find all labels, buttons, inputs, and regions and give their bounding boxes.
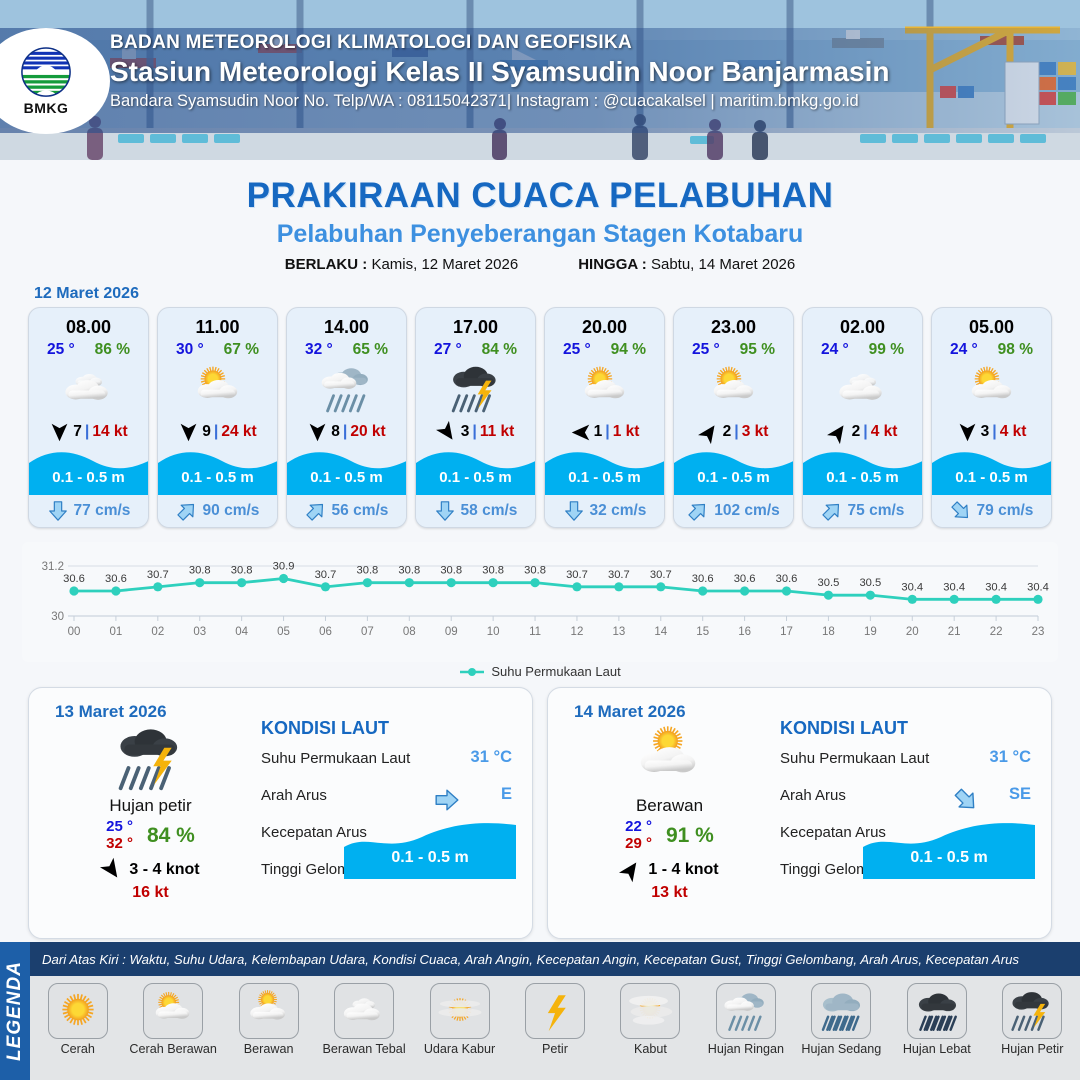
card-current-speed: 75 cm/s <box>848 502 905 520</box>
hourly-date: 12 Maret 2026 <box>34 285 1080 303</box>
current-direction-icon <box>300 495 331 526</box>
card-humidity: 95 % <box>740 341 775 359</box>
wind-direction-icon <box>433 417 462 446</box>
svg-text:30.8: 30.8 <box>189 565 211 577</box>
legenda-note: Dari Atas Kiri : Waktu, Suhu Udara, Kele… <box>30 952 1019 967</box>
card-gust: 4 kt <box>871 423 898 441</box>
header-text-block: BADAN METEOROLOGI KLIMATOLOGI DAN GEOFIS… <box>110 32 890 111</box>
card-wave-block: 0.1 - 0.5 m <box>287 447 406 495</box>
sst-label: Suhu Permukaan Laut <box>780 750 929 767</box>
current-direction-value: E <box>501 785 512 804</box>
panel-summary: Berawan 22 ° 29 ° 91 % 1 - 4 knot 13 kt <box>562 726 777 902</box>
legenda-item-label: Hujan Petir <box>988 1042 1076 1056</box>
svg-text:08: 08 <box>403 626 416 638</box>
current-direction-row: Arah Arus E <box>261 787 518 813</box>
card-separator: | <box>992 423 996 441</box>
svg-text:02: 02 <box>151 626 164 638</box>
valid-from-label: BERLAKU : <box>285 256 368 273</box>
card-wave-height: 0.1 - 0.5 m <box>803 469 922 486</box>
current-direction-icon <box>434 787 460 813</box>
panel-weather-icon <box>43 726 258 792</box>
card-wind-degree: 8 <box>331 423 340 441</box>
current-direction-indicator <box>434 787 460 813</box>
card-separator: | <box>605 423 609 441</box>
card-temp-hum: 30 ° 67 % <box>158 338 277 359</box>
svg-text:10: 10 <box>487 626 500 638</box>
card-time: 20.00 <box>545 308 664 338</box>
current-direction-icon <box>948 782 985 819</box>
valid-from: BERLAKU : Kamis, 12 Maret 2026 <box>285 256 518 273</box>
card-current-row: 77 cm/s <box>29 495 148 527</box>
card-time: 08.00 <box>29 308 148 338</box>
card-current-row: 90 cm/s <box>158 495 277 527</box>
panel-wave-value: 0.1 - 0.5 m <box>344 849 516 867</box>
current-direction-icon <box>47 500 69 522</box>
legenda-item-label: Udara Kabur <box>416 1042 504 1056</box>
current-direction-icon <box>563 500 585 522</box>
current-direction-icon <box>171 495 202 526</box>
svg-text:30.9: 30.9 <box>273 561 295 573</box>
card-time: 14.00 <box>287 308 406 338</box>
svg-text:30.4: 30.4 <box>985 581 1007 593</box>
svg-text:30.8: 30.8 <box>440 565 462 577</box>
panel-temp-min: 25 ° <box>106 819 133 836</box>
bmkg-logo-text: BMKG <box>24 100 69 116</box>
panel-condition: Berawan <box>562 796 777 816</box>
svg-text:04: 04 <box>235 626 248 638</box>
svg-text:30.6: 30.6 <box>692 573 714 585</box>
card-current-row: 58 cm/s <box>416 495 535 527</box>
card-temp-hum: 27 ° 84 % <box>416 338 535 359</box>
card-gust: 24 kt <box>221 423 256 441</box>
card-wave-block: 0.1 - 0.5 m <box>416 447 535 495</box>
daily-forecast-panel[interactable]: 14 Maret 2026 Berawan 22 ° 29 ° 91 % 1 -… <box>547 687 1052 939</box>
card-wave-block: 0.1 - 0.5 m <box>932 447 1051 495</box>
legenda-icon-box <box>811 983 871 1039</box>
chart-legend: Suhu Permukaan Laut <box>0 664 1080 679</box>
svg-text:30.7: 30.7 <box>566 569 588 581</box>
panel-summary: Hujan petir 25 ° 32 ° 84 % 3 - 4 knot 16… <box>43 726 258 902</box>
svg-text:01: 01 <box>110 626 123 638</box>
hourly-card[interactable]: 08.00 25 ° 86 % 7 | 14 kt <box>28 307 149 528</box>
card-gust: 20 kt <box>350 423 385 441</box>
hourly-card[interactable]: 23.00 25 ° 95 % 2 | 3 kt 0.1 - 0.5 m <box>673 307 794 528</box>
svg-text:30.6: 30.6 <box>734 573 756 585</box>
card-separator: | <box>214 423 218 441</box>
svg-text:05: 05 <box>277 626 290 638</box>
svg-text:03: 03 <box>193 626 206 638</box>
wind-direction-icon <box>97 854 128 885</box>
sst-row: Suhu Permukaan Laut 31 °C <box>261 750 518 776</box>
card-temp-hum: 24 ° 98 % <box>932 338 1051 359</box>
legenda-icon-box <box>907 983 967 1039</box>
card-wind-degree: 2 <box>852 423 861 441</box>
card-gust: 4 kt <box>1000 423 1027 441</box>
svg-text:11: 11 <box>529 626 541 638</box>
card-gust: 11 kt <box>480 423 514 441</box>
card-weather-icon <box>287 361 406 417</box>
card-temp-hum: 32 ° 65 % <box>287 338 406 359</box>
panel-humidity: 91 % <box>666 824 714 848</box>
card-wind-row: 3 | 11 kt <box>416 417 535 447</box>
panel-wind-row: 1 - 4 knot <box>562 859 777 881</box>
panel-sea-conditions: KONDISI LAUT Suhu Permukaan Laut 31 °C A… <box>261 718 518 887</box>
svg-text:30.7: 30.7 <box>147 569 169 581</box>
legenda-icon-box <box>143 983 203 1039</box>
validity-row: BERLAKU : Kamis, 12 Maret 2026 HINGGA : … <box>0 256 1080 273</box>
card-wind-row: 9 | 24 kt <box>158 417 277 447</box>
panel-condition: Hujan petir <box>43 796 258 816</box>
card-temperature: 25 ° <box>563 341 591 359</box>
legenda-icon-box <box>620 983 680 1039</box>
panel-temp-min: 22 ° <box>625 819 652 836</box>
title-block: PRAKIRAAN CUACA PELABUHAN Pelabuhan Peny… <box>0 160 1080 273</box>
legenda-item: Petir <box>511 983 599 1056</box>
card-gust: 14 kt <box>92 423 127 441</box>
svg-text:30.4: 30.4 <box>943 581 965 593</box>
card-temperature: 25 ° <box>47 341 75 359</box>
daily-forecast-panel[interactable]: 13 Maret 2026 Hujan petir 25 ° 32 ° 84 %… <box>28 687 533 939</box>
valid-to-value: Sabtu, 14 Maret 2026 <box>651 256 795 273</box>
hourly-forecast-cards: 08.00 25 ° 86 % 7 | 14 kt <box>0 307 1080 528</box>
card-current-speed: 77 cm/s <box>74 502 131 520</box>
legenda-items: Cerah Cerah Berawan Berawan <box>30 976 1080 1080</box>
current-direction-label: Arah Arus <box>261 787 327 804</box>
current-direction-icon <box>683 495 714 526</box>
current-direction-row: Arah Arus SE <box>780 787 1037 813</box>
sea-conditions-title: KONDISI LAUT <box>261 718 518 739</box>
current-direction-value: SE <box>1009 785 1031 804</box>
legenda-side-text: LEGENDA <box>4 961 26 1061</box>
card-wave-height: 0.1 - 0.5 m <box>932 469 1051 486</box>
card-time: 23.00 <box>674 308 793 338</box>
card-current-speed: 102 cm/s <box>714 502 780 520</box>
card-wave-block: 0.1 - 0.5 m <box>545 447 664 495</box>
card-separator: | <box>343 423 347 441</box>
card-current-speed: 58 cm/s <box>461 502 518 520</box>
valid-to-label: HINGGA : <box>578 256 647 273</box>
wind-direction-icon <box>178 422 199 443</box>
sst-chart-svg: 31.23030.60030.60130.70230.80330.80430.9… <box>22 542 1058 660</box>
card-current-row: 79 cm/s <box>932 495 1051 527</box>
sea-conditions-title: KONDISI LAUT <box>780 718 1037 739</box>
legenda-item-label: Hujan Lebat <box>893 1042 981 1056</box>
hourly-card[interactable]: 20.00 25 ° 94 % 1 | 1 kt 0.1 - 0.5 m <box>544 307 665 528</box>
legenda-icon-box <box>716 983 776 1039</box>
svg-text:07: 07 <box>361 626 374 638</box>
legenda-icon-box <box>1002 983 1062 1039</box>
wind-direction-icon <box>694 417 723 446</box>
card-current-speed: 56 cm/s <box>332 502 389 520</box>
card-wave-height: 0.1 - 0.5 m <box>674 469 793 486</box>
hourly-card[interactable]: 02.00 24 ° 99 % 2 | 4 kt <box>802 307 923 528</box>
svg-text:15: 15 <box>696 626 709 638</box>
legenda-icon-box <box>48 983 108 1039</box>
card-humidity: 86 % <box>95 341 130 359</box>
panel-date: 14 Maret 2026 <box>574 702 686 722</box>
daily-forecast-panels: 13 Maret 2026 Hujan petir 25 ° 32 ° 84 %… <box>0 679 1080 939</box>
panel-temp-max: 32 ° <box>106 836 133 853</box>
legenda-item: Berawan <box>225 983 313 1056</box>
card-temp-hum: 25 ° 94 % <box>545 338 664 359</box>
wind-direction-icon <box>957 422 978 443</box>
svg-text:30.8: 30.8 <box>524 565 546 577</box>
card-time: 02.00 <box>803 308 922 338</box>
svg-text:30.7: 30.7 <box>650 569 672 581</box>
card-temperature: 24 ° <box>821 341 849 359</box>
panel-wind-speed: 3 - 4 knot <box>129 861 199 879</box>
sst-value: 31 °C <box>471 748 512 767</box>
legenda-item-label: Berawan <box>225 1042 313 1056</box>
svg-text:13: 13 <box>612 626 625 638</box>
card-wave-block: 0.1 - 0.5 m <box>674 447 793 495</box>
svg-text:30.5: 30.5 <box>818 577 840 589</box>
card-humidity: 67 % <box>224 341 259 359</box>
legenda-note-bar: Dari Atas Kiri : Waktu, Suhu Udara, Kele… <box>30 942 1080 976</box>
card-wind-degree: 9 <box>202 423 211 441</box>
page-title: PRAKIRAAN CUACA PELABUHAN <box>0 176 1080 216</box>
agency-name: BADAN METEOROLOGI KLIMATOLOGI DAN GEOFIS… <box>110 32 890 54</box>
card-separator: | <box>85 423 89 441</box>
card-gust: 1 kt <box>613 423 640 441</box>
card-temp-hum: 25 ° 95 % <box>674 338 793 359</box>
hourly-card[interactable]: 11.00 30 ° 67 % 9 | 24 kt 0.1 - 0.5 m <box>157 307 278 528</box>
card-humidity: 94 % <box>611 341 646 359</box>
panel-temps: 22 ° 29 ° 91 % <box>562 819 777 853</box>
svg-text:30.8: 30.8 <box>231 565 253 577</box>
svg-text:30.4: 30.4 <box>1027 581 1049 593</box>
legenda-icon-box <box>239 983 299 1039</box>
card-weather-icon <box>158 361 277 417</box>
card-wind-row: 2 | 4 kt <box>803 417 922 447</box>
card-wind-degree: 7 <box>73 423 82 441</box>
svg-text:30.6: 30.6 <box>776 573 798 585</box>
panel-wave-badge: 0.1 - 0.5 m <box>863 819 1035 879</box>
legenda-item-label: Cerah <box>34 1042 122 1056</box>
current-direction-label: Arah Arus <box>780 787 846 804</box>
current-direction-icon <box>434 500 456 522</box>
svg-text:22: 22 <box>990 626 1003 638</box>
legenda-section: LEGENDA Dari Atas Kiri : Waktu, Suhu Uda… <box>0 942 1080 1080</box>
card-current-speed: 32 cm/s <box>590 502 647 520</box>
svg-text:30.8: 30.8 <box>482 565 504 577</box>
panel-gust: 16 kt <box>43 884 258 902</box>
panel-wave-badge: 0.1 - 0.5 m <box>344 819 516 879</box>
svg-text:30.6: 30.6 <box>105 573 127 585</box>
legenda-item: Cerah <box>34 983 122 1056</box>
card-current-speed: 90 cm/s <box>203 502 260 520</box>
wind-direction-icon <box>616 854 647 885</box>
svg-text:30.4: 30.4 <box>901 581 923 593</box>
card-separator: | <box>863 423 867 441</box>
svg-text:30.6: 30.6 <box>63 573 85 585</box>
svg-text:09: 09 <box>445 626 458 638</box>
svg-text:20: 20 <box>906 626 919 638</box>
svg-text:23: 23 <box>1032 626 1045 638</box>
legenda-item-label: Berawan Tebal <box>320 1042 408 1056</box>
svg-text:21: 21 <box>948 626 961 638</box>
legenda-item-label: Petir <box>511 1042 599 1056</box>
legenda-item: Hujan Lebat <box>893 983 981 1056</box>
panel-gust: 13 kt <box>562 884 777 902</box>
legenda-item: Berawan Tebal <box>320 983 408 1056</box>
station-name: Stasiun Meteorologi Kelas II Syamsudin N… <box>110 56 890 88</box>
legenda-item-label: Hujan Ringan <box>702 1042 790 1056</box>
card-temp-hum: 25 ° 86 % <box>29 338 148 359</box>
valid-to: HINGGA : Sabtu, 14 Maret 2026 <box>578 256 795 273</box>
card-separator: | <box>734 423 738 441</box>
card-temp-hum: 24 ° 99 % <box>803 338 922 359</box>
legenda-item: Udara Kabur <box>416 983 504 1056</box>
legenda-item: Hujan Sedang <box>797 983 885 1056</box>
legenda-icon-box <box>430 983 490 1039</box>
svg-text:30.5: 30.5 <box>859 577 881 589</box>
svg-text:30.8: 30.8 <box>398 565 420 577</box>
bmkg-logo-icon <box>17 47 75 99</box>
legenda-item-label: Hujan Sedang <box>797 1042 885 1056</box>
chart-legend-label: Suhu Permukaan Laut <box>491 664 620 679</box>
panel-weather-icon <box>562 726 777 792</box>
svg-text:30.8: 30.8 <box>357 565 379 577</box>
legenda-item: Hujan Petir <box>988 983 1076 1056</box>
wind-direction-icon <box>570 422 591 443</box>
card-weather-icon <box>416 361 535 417</box>
svg-text:30: 30 <box>51 611 64 623</box>
card-separator: | <box>472 423 476 441</box>
card-wind-degree: 3 <box>461 423 470 441</box>
svg-text:00: 00 <box>68 626 81 638</box>
svg-text:14: 14 <box>654 626 667 638</box>
card-humidity: 99 % <box>869 341 904 359</box>
card-weather-icon <box>803 361 922 417</box>
card-weather-icon <box>545 361 664 417</box>
page-subtitle: Pelabuhan Penyeberangan Stagen Kotabaru <box>0 220 1080 249</box>
legenda-item-label: Cerah Berawan <box>129 1042 217 1056</box>
svg-text:19: 19 <box>864 626 877 638</box>
svg-text:30.7: 30.7 <box>315 569 337 581</box>
current-direction-icon <box>945 495 976 526</box>
panel-humidity: 84 % <box>147 824 195 848</box>
legenda-side-label: LEGENDA <box>0 942 30 1080</box>
card-temperature: 24 ° <box>950 341 978 359</box>
svg-text:12: 12 <box>571 626 584 638</box>
card-humidity: 98 % <box>998 341 1033 359</box>
contact-line: Bandara Syamsudin Noor No. Telp/WA : 081… <box>110 92 890 111</box>
card-current-row: 32 cm/s <box>545 495 664 527</box>
card-wind-row: 3 | 4 kt <box>932 417 1051 447</box>
legenda-icon-box <box>334 983 394 1039</box>
card-wind-degree: 2 <box>723 423 732 441</box>
sst-value: 31 °C <box>990 748 1031 767</box>
card-current-speed: 79 cm/s <box>977 502 1034 520</box>
card-time: 05.00 <box>932 308 1051 338</box>
legenda-icon-box <box>525 983 585 1039</box>
legend-marker-icon <box>459 666 485 678</box>
card-weather-icon <box>932 361 1051 417</box>
card-wind-row: 7 | 14 kt <box>29 417 148 447</box>
sst-chart: 31.23030.60030.60130.70230.80330.80430.9… <box>22 542 1058 662</box>
card-wind-row: 2 | 3 kt <box>674 417 793 447</box>
card-temperature: 27 ° <box>434 341 462 359</box>
panel-wind-speed: 1 - 4 knot <box>648 861 718 879</box>
hourly-card[interactable]: 05.00 24 ° 98 % 3 | 4 kt 0.1 - 0.5 m <box>931 307 1052 528</box>
sst-row: Suhu Permukaan Laut 31 °C <box>780 750 1037 776</box>
panel-temps: 25 ° 32 ° 84 % <box>43 819 258 853</box>
wind-direction-icon <box>307 422 328 443</box>
panel-date: 13 Maret 2026 <box>55 702 167 722</box>
page-header: BMKG BADAN METEOROLOGI KLIMATOLOGI DAN G… <box>0 0 1080 160</box>
card-wind-degree: 3 <box>981 423 990 441</box>
card-wind-degree: 1 <box>594 423 603 441</box>
wind-direction-icon <box>49 422 70 443</box>
legenda-item: Kabut <box>606 983 694 1056</box>
card-wind-row: 8 | 20 kt <box>287 417 406 447</box>
legenda-item-label: Kabut <box>606 1042 694 1056</box>
card-wave-height: 0.1 - 0.5 m <box>158 469 277 486</box>
card-current-row: 102 cm/s <box>674 495 793 527</box>
panel-sea-conditions: KONDISI LAUT Suhu Permukaan Laut 31 °C A… <box>780 718 1037 887</box>
card-wave-height: 0.1 - 0.5 m <box>29 469 148 486</box>
card-time: 17.00 <box>416 308 535 338</box>
legenda-item: Cerah Berawan <box>129 983 217 1056</box>
current-direction-indicator <box>953 787 979 813</box>
card-humidity: 65 % <box>353 341 388 359</box>
card-wave-height: 0.1 - 0.5 m <box>545 469 664 486</box>
card-wind-row: 1 | 1 kt <box>545 417 664 447</box>
card-wave-block: 0.1 - 0.5 m <box>803 447 922 495</box>
panel-wind-row: 3 - 4 knot <box>43 859 258 881</box>
current-direction-icon <box>816 495 847 526</box>
card-time: 11.00 <box>158 308 277 338</box>
panel-temp-max: 29 ° <box>625 836 652 853</box>
card-weather-icon <box>674 361 793 417</box>
svg-text:18: 18 <box>822 626 835 638</box>
svg-text:31.2: 31.2 <box>42 561 64 573</box>
card-wave-height: 0.1 - 0.5 m <box>287 469 406 486</box>
card-wave-height: 0.1 - 0.5 m <box>416 469 535 486</box>
legenda-item: Hujan Ringan <box>702 983 790 1056</box>
svg-text:17: 17 <box>780 626 793 638</box>
valid-from-value: Kamis, 12 Maret 2026 <box>371 256 518 273</box>
hourly-card[interactable]: 14.00 32 ° 65 % 8 | 20 kt <box>286 307 407 528</box>
svg-text:16: 16 <box>738 626 751 638</box>
wind-direction-icon <box>823 417 852 446</box>
card-current-row: 75 cm/s <box>803 495 922 527</box>
card-gust: 3 kt <box>742 423 769 441</box>
svg-text:30.7: 30.7 <box>608 569 630 581</box>
card-current-row: 56 cm/s <box>287 495 406 527</box>
card-humidity: 84 % <box>482 341 517 359</box>
card-temperature: 32 ° <box>305 341 333 359</box>
card-weather-icon <box>29 361 148 417</box>
card-wave-block: 0.1 - 0.5 m <box>158 447 277 495</box>
svg-text:06: 06 <box>319 626 332 638</box>
hourly-card[interactable]: 17.00 27 ° 84 % 3 | 11 kt 0.1 - 0.5 m <box>415 307 536 528</box>
card-temperature: 30 ° <box>176 341 204 359</box>
card-temperature: 25 ° <box>692 341 720 359</box>
sst-label: Suhu Permukaan Laut <box>261 750 410 767</box>
panel-wave-value: 0.1 - 0.5 m <box>863 849 1035 867</box>
card-wave-block: 0.1 - 0.5 m <box>29 447 148 495</box>
